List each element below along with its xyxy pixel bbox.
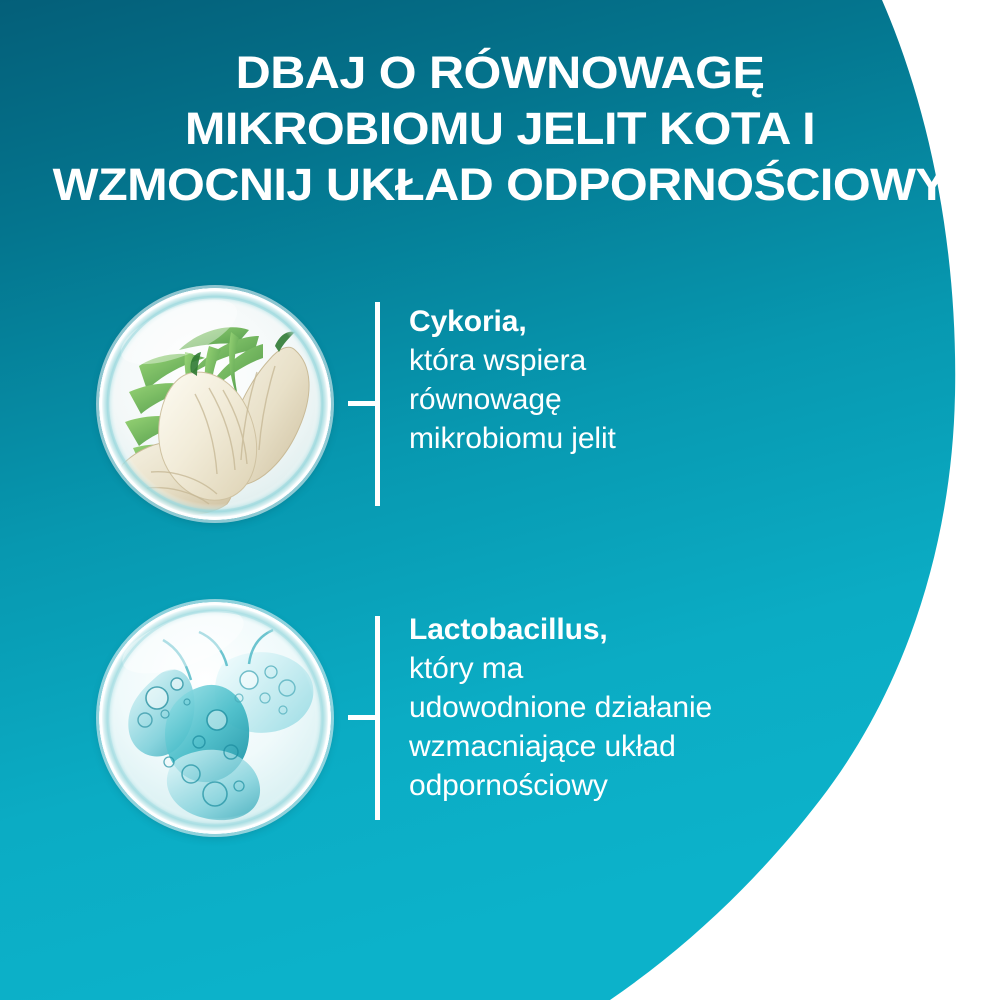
connector-bracket-lactobacillus — [348, 602, 380, 834]
headline-line-2: MIKROBIOMU JELIT KOTA I — [0, 106, 1000, 162]
lactobacillus-lead: Lactobacillus, — [409, 610, 929, 649]
connector-horizontal-tick — [348, 401, 378, 406]
petri-dish-lactobacillus-gel — [99, 602, 331, 834]
chicory-image-wrap — [99, 288, 331, 520]
chicory-body-line-1: która wspiera — [409, 341, 929, 380]
lactobacillus-body-line-1: który ma — [409, 649, 929, 688]
chicory-body-line-3: mikrobiomu jelit — [409, 419, 929, 458]
lactobacillus-body-line-4: odpornościowy — [409, 766, 929, 805]
chicory-illustration — [99, 288, 331, 520]
lactobacillus-image-wrap — [99, 602, 331, 834]
lactobacillus-body-line-3: wzmacniające układ — [409, 727, 929, 766]
petri-dish-chicory-roots — [99, 288, 331, 520]
promo-poster: DBAJ O RÓWNOWAGĘ MIKROBIOMU JELIT KOTA I… — [0, 0, 1000, 1000]
headline-line-3: WZMOCNIJ UKŁAD ODPORNOŚCIOWY — [0, 162, 1000, 207]
lactobacillus-body-line-2: udowodnione działanie — [409, 688, 929, 727]
connector-bracket-chicory — [348, 288, 380, 520]
chicory-body-line-2: równowagę — [409, 380, 929, 419]
chicory-text-block: Cykoria, która wspiera równowagę mikrobi… — [409, 302, 929, 458]
headline-line-1: DBAJ O RÓWNOWAGĘ — [0, 50, 1000, 106]
headline: DBAJ O RÓWNOWAGĘ MIKROBIOMU JELIT KOTA I… — [0, 50, 1000, 207]
connector-horizontal-tick — [348, 715, 378, 720]
lactobacillus-illustration — [99, 602, 331, 834]
lactobacillus-text-block: Lactobacillus, który ma udowodnione dzia… — [409, 610, 929, 805]
chicory-lead: Cykoria, — [409, 302, 929, 341]
